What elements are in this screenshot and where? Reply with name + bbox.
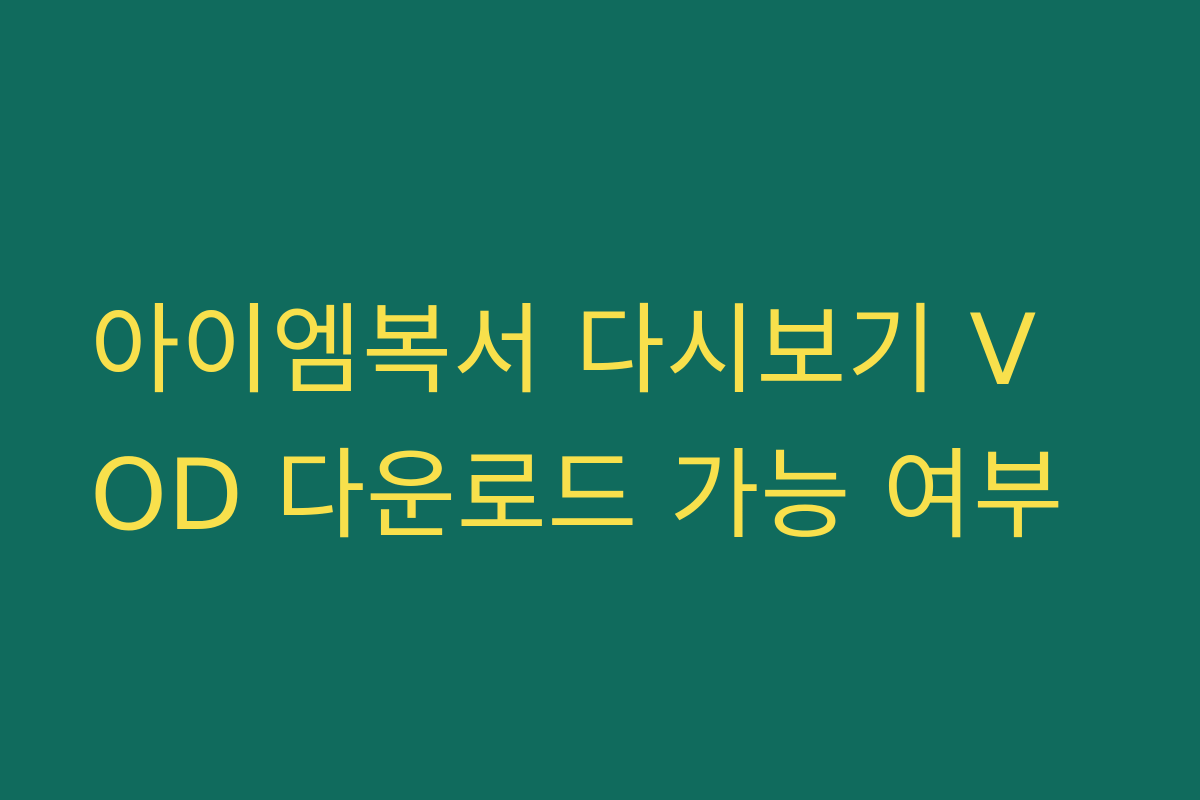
page-title: 아이엠복서 다시보기 VOD 다운로드 가능 여부 xyxy=(90,279,1110,569)
headline-block: 아이엠복서 다시보기 VOD 다운로드 가능 여부 xyxy=(90,279,1110,569)
banner-canvas: 아이엠복서 다시보기 VOD 다운로드 가능 여부 xyxy=(0,0,1200,800)
